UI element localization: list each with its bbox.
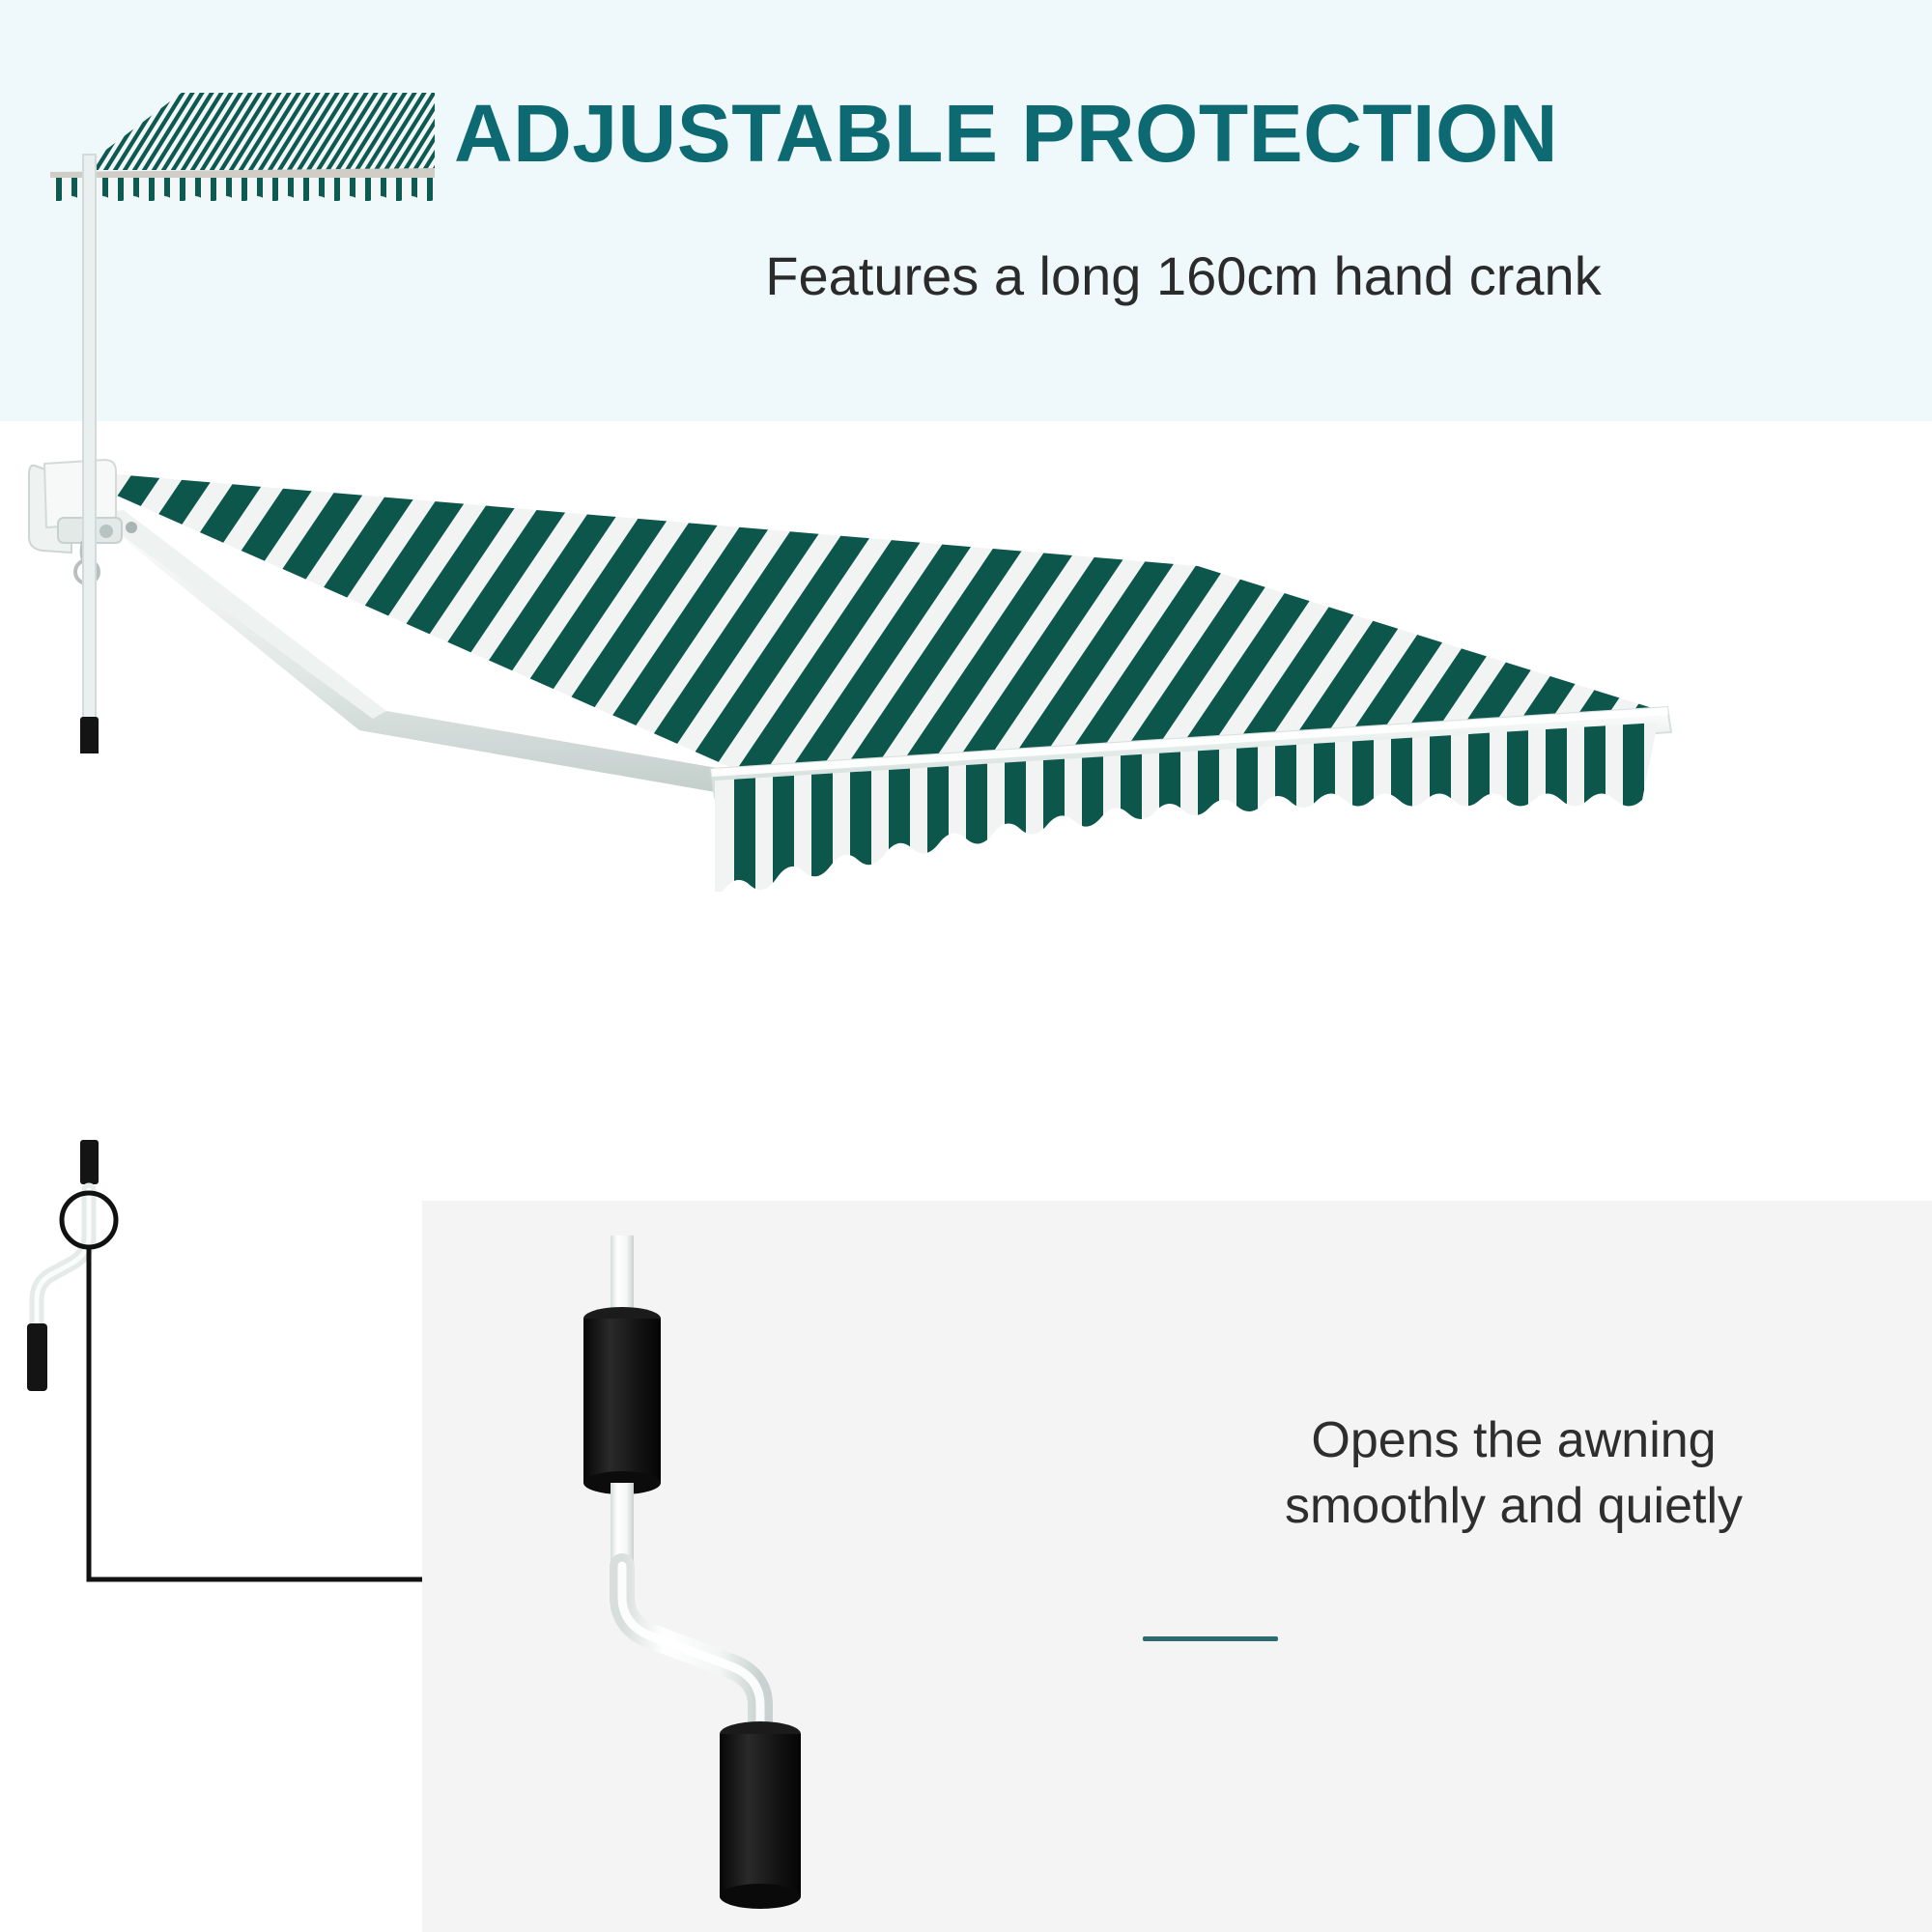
detail-divider — [1143, 1636, 1278, 1641]
detail-panel: Opens the awning smoothly and quietly — [422, 1201, 1932, 1932]
detail-caption: Opens the awning smoothly and quietly — [1176, 1408, 1852, 1539]
crank-lower-handle-icon — [0, 1140, 309, 1391]
hand-crank-handle-icon — [441, 1210, 847, 1925]
page-subtitle: Features a long 160cm hand crank — [454, 246, 1913, 306]
detail-caption-line-1: Opens the awning — [1176, 1408, 1852, 1474]
crank-rod-icon — [0, 0, 386, 753]
marketing-banner: ADJUSTABLE PROTECTION Features a long 16… — [0, 0, 1932, 1932]
detail-caption-line-2: smoothly and quietly — [1176, 1474, 1852, 1540]
page-title: ADJUSTABLE PROTECTION — [454, 93, 1913, 174]
